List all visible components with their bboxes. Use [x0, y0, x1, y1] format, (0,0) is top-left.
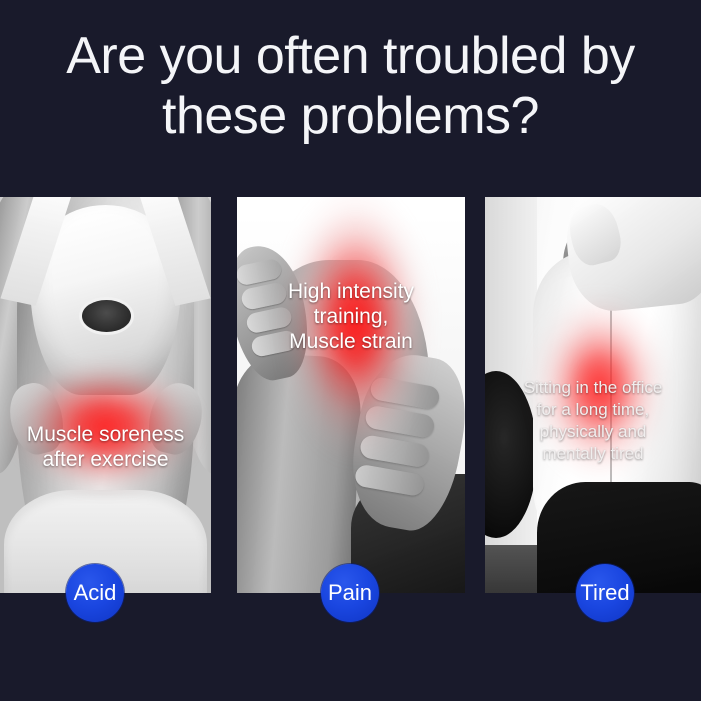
pain-glow-overlay: [269, 197, 442, 466]
status-badge-pain[interactable]: Pain: [321, 564, 379, 622]
status-badge-tired[interactable]: Tired: [576, 564, 634, 622]
pain-glow-overlay: [4, 355, 207, 498]
problem-panel-acid[interactable]: [0, 197, 211, 593]
badge-label: Tired: [580, 582, 629, 604]
problem-panel-pain[interactable]: [237, 197, 465, 593]
poster-canvas: Are you often troubled by these problems…: [0, 0, 701, 701]
badge-label: Acid: [74, 582, 117, 604]
status-badge-acid[interactable]: Acid: [66, 564, 124, 622]
pain-glow-overlay: [520, 292, 680, 498]
badge-label: Pain: [328, 582, 372, 604]
problem-panel-tired[interactable]: [485, 197, 701, 593]
page-title: Are you often troubled by these problems…: [0, 26, 701, 146]
